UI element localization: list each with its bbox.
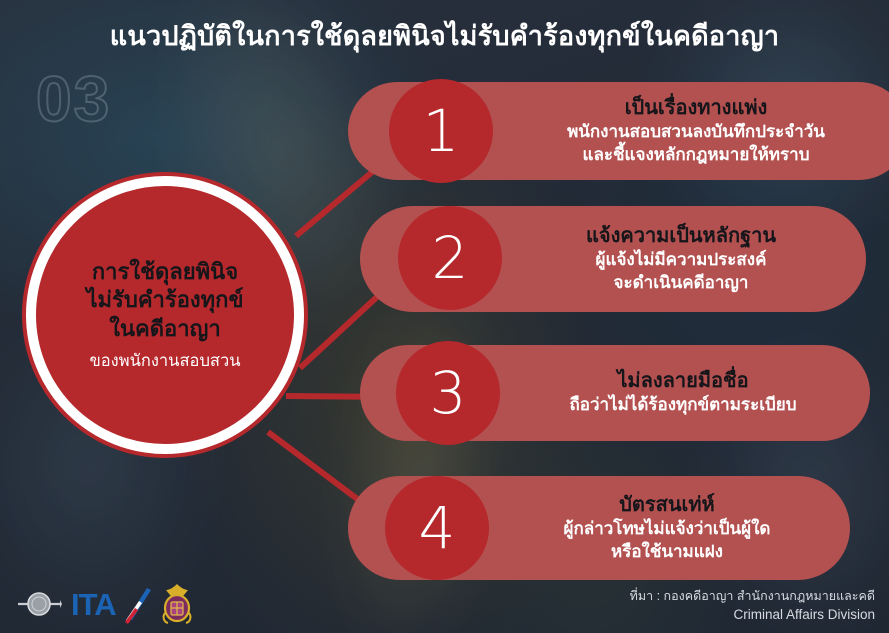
- item-4-body-line-2: หรือใช้นามแฝง: [498, 541, 836, 563]
- item-4-text: บัตรสนเท่ห์ ผู้กล่าวโทษไม่แจ้งว่าเป็นผู้…: [498, 493, 836, 562]
- item-3-body-line-1: ถือว่าไม่ได้ร้องทุกข์ตามระเบียบ: [510, 394, 856, 416]
- ita-logo-text: ITA: [71, 589, 116, 620]
- item-2-text: แจ้งความเป็นหลักฐาน ผู้แจ้งไม่มีความประส…: [510, 224, 852, 293]
- item-3-heading: ไม่ลงลายมือชื่อ: [510, 369, 856, 394]
- item-1-text: เป็นเรื่องทางแพ่ง พนักงานสอบสวนลงบันทึกป…: [498, 96, 889, 165]
- royal-thai-police-emblem-icon: [160, 583, 194, 625]
- source-credit: ที่มา : กองคดีอาญา สำนักงานกฎหมายและคดี …: [630, 587, 875, 625]
- infographic-canvas: แนวปฏิบัติในการใช้ดุลยพินิจไม่รับคำร้องท…: [0, 0, 889, 633]
- item-3-number-bubble[interactable]: 3: [396, 341, 500, 445]
- logo-group: ITA: [16, 583, 194, 625]
- credit-source-en: Criminal Affairs Division: [630, 605, 875, 625]
- item-2-number: 2: [432, 229, 469, 287]
- hub-line-3: ในคดีอาญา: [109, 315, 220, 344]
- item-3-text: ไม่ลงลายมือชื่อ ถือว่าไม่ได้ร้องทุกข์ตาม…: [510, 369, 856, 416]
- item-2-body-line-2: จะดำเนินคดีอาญา: [510, 272, 852, 294]
- hub-subtitle: ของพนักงานสอบสวน: [89, 351, 240, 372]
- credit-source-th: ที่มา : กองคดีอาญา สำนักงานกฎหมายและคดี: [630, 587, 875, 605]
- central-hub-circle[interactable]: การใช้ดุลยพินิจ ไม่รับคำร้องทุกข์ ในคดีอ…: [26, 176, 304, 454]
- item-2-body-line-1: ผู้แจ้งไม่มีความประสงค์: [510, 249, 852, 271]
- hub-line-1: การใช้ดุลยพินิจ: [92, 258, 238, 287]
- item-1-number-bubble[interactable]: 1: [389, 79, 493, 183]
- item-2-number-bubble[interactable]: 2: [398, 206, 502, 310]
- item-1-heading: เป็นเรื่องทางแพ่ง: [498, 96, 889, 121]
- item-4-number-bubble[interactable]: 4: [385, 476, 489, 580]
- item-1-number: 1: [423, 102, 460, 160]
- item-3-number: 3: [430, 364, 467, 422]
- hub-line-2: ไม่รับคำร้องทุกข์: [86, 286, 243, 315]
- item-4-heading: บัตรสนเท่ห์: [498, 493, 836, 518]
- item-1-body-line-2: และชี้แจงหลักกฎหมายให้ทราบ: [498, 144, 889, 166]
- item-4-body-line-1: ผู้กล่าวโทษไม่แจ้งว่าเป็นผู้ใด: [498, 518, 836, 540]
- police-sword-emblem-icon: [16, 584, 62, 624]
- thai-flag-swoosh-icon: [125, 584, 151, 624]
- item-4-number: 4: [419, 499, 456, 557]
- item-1-body-line-1: พนักงานสอบสวนลงบันทึกประจำวัน: [498, 121, 889, 143]
- item-2-heading: แจ้งความเป็นหลักฐาน: [510, 224, 852, 249]
